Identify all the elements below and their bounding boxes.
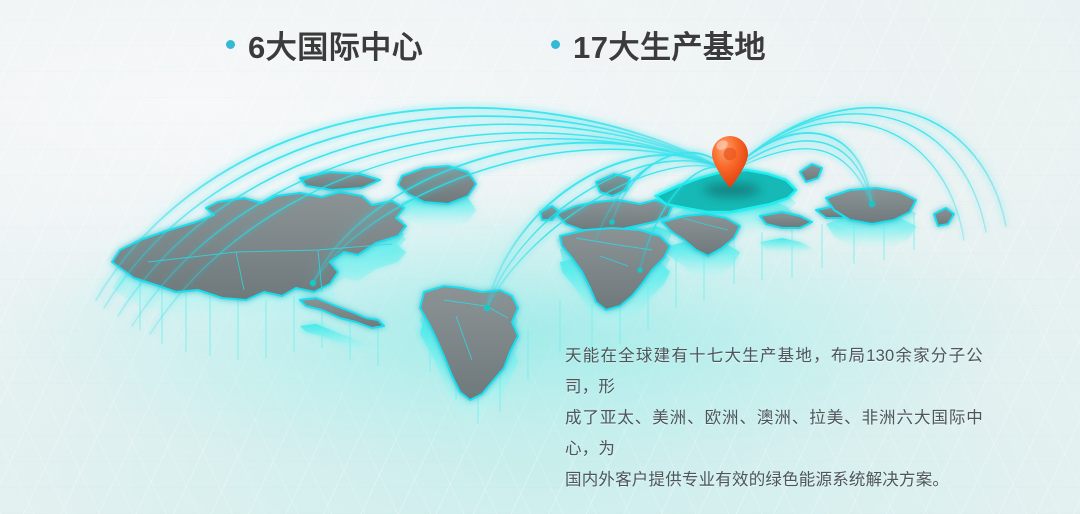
paragraph-line: 天能在全球建有十七大生产基地，布局130余家分子公司，形 bbox=[565, 341, 983, 403]
paragraph-line: 国内外客户提供专业有效的绿色能源系统解决方案。 bbox=[565, 465, 983, 496]
heading-label: 6大国际中心 bbox=[248, 22, 423, 67]
globe-infographic: 6大国际中心 17大生产基地 天能在全球建有十七大生产基地，布局130余家分子公… bbox=[0, 0, 1080, 514]
paragraph-line: 成了亚太、美洲、欧洲、澳洲、拉美、非洲六大国际中心，为 bbox=[565, 403, 983, 465]
heading-label: 17大生产基地 bbox=[573, 22, 766, 67]
heading-international-centers: 6大国际中心 bbox=[226, 22, 423, 67]
description-paragraph: 天能在全球建有十七大生产基地，布局130余家分子公司，形 成了亚太、美洲、欧洲、… bbox=[565, 341, 983, 496]
bullet-dot-icon bbox=[226, 40, 235, 49]
headings-row: 6大国际中心 17大生产基地 bbox=[0, 22, 1080, 74]
heading-production-bases: 17大生产基地 bbox=[551, 22, 766, 67]
bullet-dot-icon bbox=[551, 40, 560, 49]
